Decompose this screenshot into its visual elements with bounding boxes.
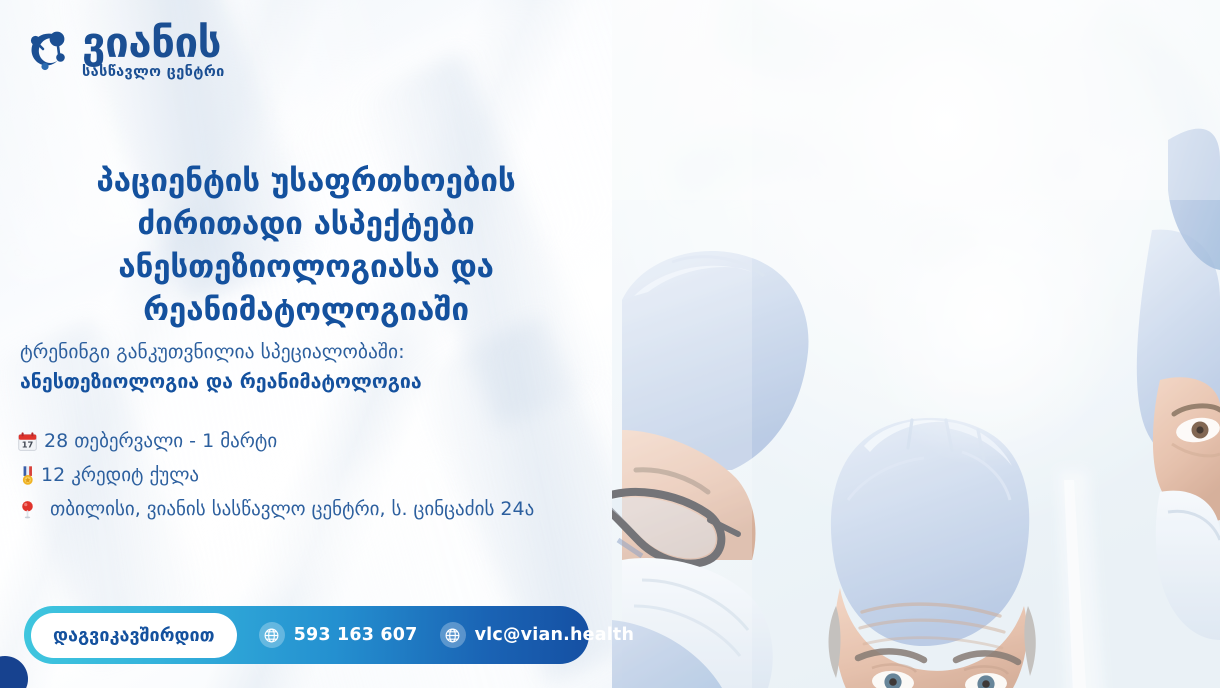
detail-text-credit: 12 კრედიტ ქულა (41, 463, 199, 489)
contact-email[interactable]: vlc@vian.health (440, 622, 635, 648)
detail-text-date: 28 თებერვალი - 1 მარტი (44, 429, 277, 455)
email-address: vlc@vian.health (475, 625, 635, 645)
promo-poster: ვიანის სასწავლო ცენტრი პაციენტის უსაფრთხ… (0, 0, 1220, 688)
contact-us-label: დაგვიკავშირდით (53, 625, 215, 646)
operating-room-photo (612, 0, 1220, 688)
globe-icon (259, 622, 285, 648)
specialty-block: ტრენინგი განკუთვნილია სპეციალობაში: ანეს… (20, 338, 580, 397)
detail-row-date: 17 28 თებერვალი - 1 მარტი (14, 427, 594, 456)
event-details-list: 17 28 თებერვალი - 1 მარტი 12 კრედიტ ქულა (14, 427, 594, 529)
brand-name: ვიანის (82, 22, 227, 64)
brand-tagline: სასწავლო ცენტრი (82, 65, 227, 80)
calendar-icon: 17 (14, 429, 40, 455)
location-pin-icon (14, 497, 40, 523)
svg-text:17: 17 (21, 440, 33, 450)
globe-icon (440, 622, 466, 648)
detail-row-credit: 12 კრედიტ ქულა (14, 461, 594, 490)
contact-phone[interactable]: 593 163 607 (259, 622, 418, 648)
poster-headline: პაციენტის უსაფრთხოების ძირითადი ასპექტებ… (0, 160, 612, 333)
contact-bar: დაგვიკავშირდით 593 163 607 vlc@vian. (24, 606, 589, 664)
brand-logo[interactable]: ვიანის სასწავლო ცენტრი (24, 22, 227, 80)
medal-icon (14, 463, 40, 489)
detail-row-location: თბილისი, ვიანის სასწავლო ცენტრი, ს. ცინც… (14, 495, 594, 524)
contact-us-button[interactable]: დაგვიკავშირდით (31, 613, 237, 658)
brand-wordmark: ვიანის სასწავლო ცენტრი (82, 22, 227, 80)
network-molecule-icon (24, 27, 72, 75)
phone-number: 593 163 607 (294, 625, 418, 645)
detail-text-location: თბილისი, ვიანის სასწავლო ცენტრი, ს. ცინც… (50, 497, 534, 523)
specialty-name: ანესთეზიოლოგია და რეანიმატოლოგია (20, 368, 580, 396)
specialty-intro: ტრენინგი განკუთვნილია სპეციალობაში: (20, 338, 580, 366)
